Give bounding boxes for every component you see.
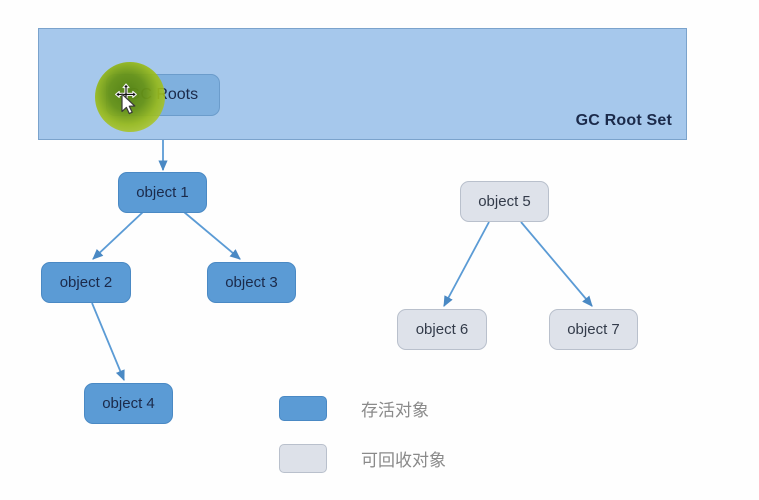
node-object7[interactable]: object 7 [549,309,638,350]
node-object1-label: object 1 [136,184,189,201]
diagram-canvas: GC Root Set GC Roots object 1 object 2 o… [0,0,759,500]
node-object3[interactable]: object 3 [207,262,296,303]
node-object7-label: object 7 [567,321,620,338]
node-object2[interactable]: object 2 [41,262,131,303]
legend-swatch-live [279,396,327,421]
edge-object5-object7 [521,222,592,306]
node-object2-label: object 2 [60,274,113,291]
edge-object1-object3 [184,212,240,259]
node-object6[interactable]: object 6 [397,309,487,350]
node-object4-label: object 4 [102,395,155,412]
click-highlight-icon [95,62,165,132]
legend-label-live: 存活对象 [361,396,429,421]
edge-object5-object6 [444,222,489,306]
edge-object2-object4 [92,303,124,380]
gc-root-set-label: GC Root Set [576,112,672,130]
node-object3-label: object 3 [225,274,278,291]
legend-swatch-dead [279,444,327,473]
edge-object1-object2 [93,212,143,259]
node-object6-label: object 6 [416,321,469,338]
node-object1[interactable]: object 1 [118,172,207,213]
node-object4[interactable]: object 4 [84,383,173,424]
node-object5[interactable]: object 5 [460,181,549,222]
node-object5-label: object 5 [478,193,531,210]
legend-label-dead: 可回收对象 [361,446,446,471]
